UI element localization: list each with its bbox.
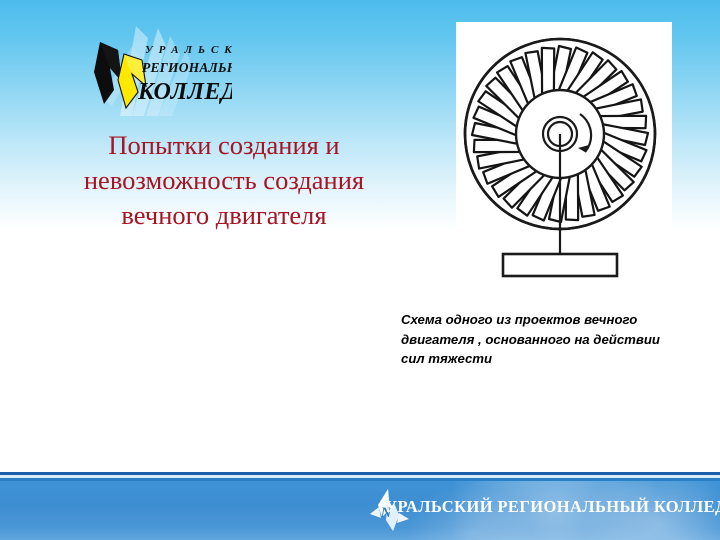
header-logo: У Р А Л Ь С К И Й РЕГИОНАЛЬНЫЙ КОЛЛЕДЖ <box>62 20 232 120</box>
logo-line-1: У Р А Л Ь С К И Й <box>145 44 232 56</box>
slide-title: Попытки создания и невозможность создани… <box>14 128 434 233</box>
perpetual-motion-wheel-diagram <box>456 22 672 294</box>
slide-canvas: У Р А Л Ь С К И Й РЕГИОНАЛЬНЫЙ КОЛЛЕДЖ П… <box>0 0 720 540</box>
figure-image <box>456 22 672 294</box>
header-logo-graphic: У Р А Л Ь С К И Й РЕГИОНАЛЬНЫЙ КОЛЛЕДЖ <box>62 20 232 120</box>
logo-line-3: КОЛЛЕДЖ <box>137 79 232 105</box>
footer-title: УРАЛЬСКИЙ РЕГИОНАЛЬНЫЙ КОЛЛЕДЖ <box>385 497 720 517</box>
base-plate <box>503 254 617 276</box>
logo-line-2: РЕГИОНАЛЬНЫЙ <box>142 60 232 75</box>
figure-caption: Схема одного из проектов вечного двигате… <box>401 310 713 369</box>
